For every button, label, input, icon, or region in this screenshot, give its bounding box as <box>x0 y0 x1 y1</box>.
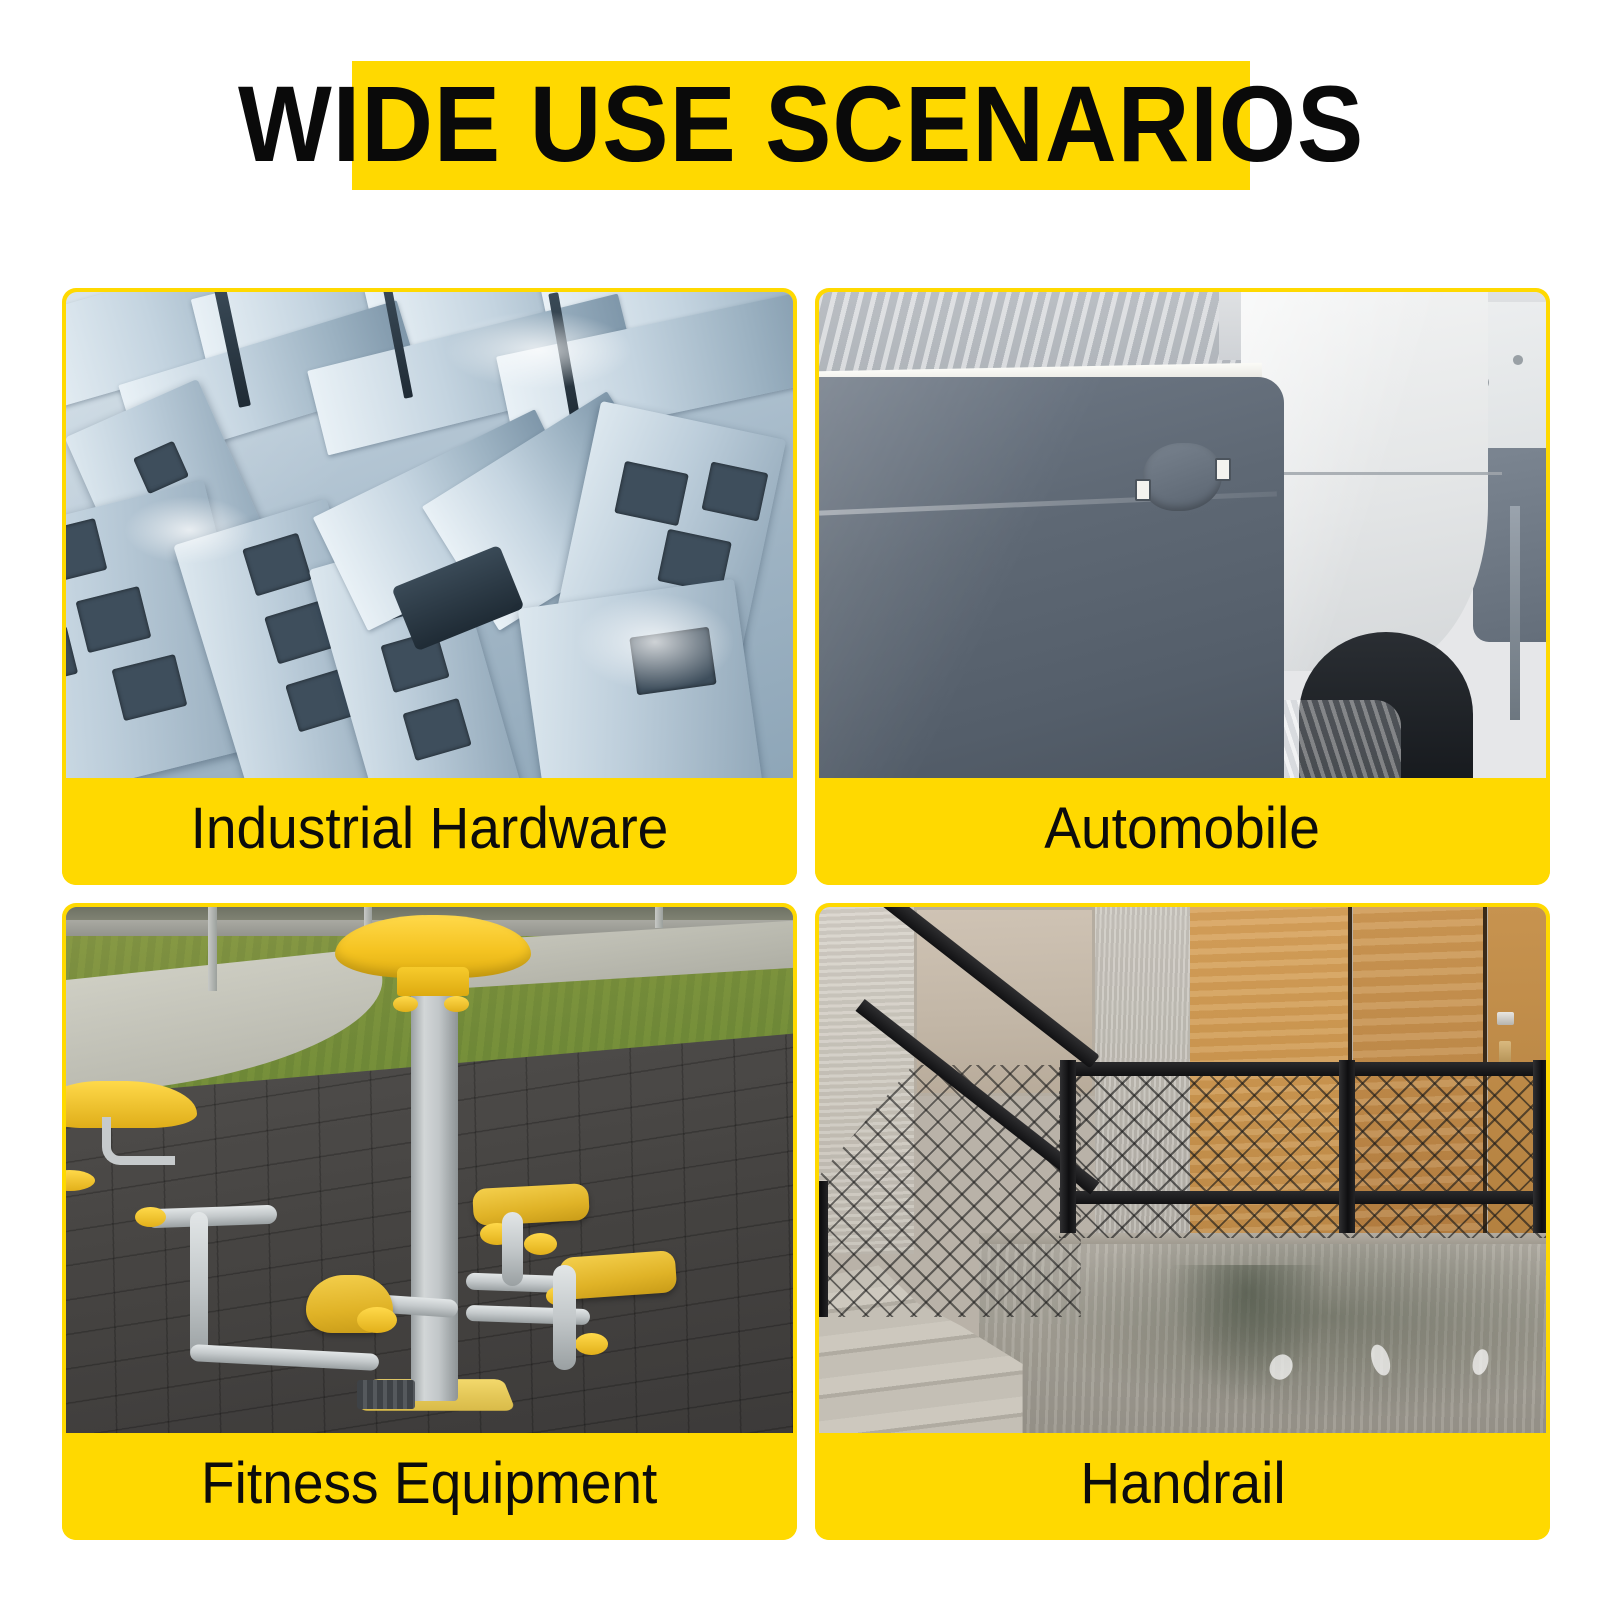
photo-fitness-equipment <box>66 907 793 1433</box>
caption-bar-industrial-hardware: Industrial Hardware <box>62 778 797 885</box>
card-label-automobile: Automobile <box>1045 800 1321 864</box>
scenario-card-automobile[interactable]: Automobile <box>815 288 1550 885</box>
photo-industrial-hardware <box>66 292 793 778</box>
car-door-primer <box>819 377 1284 778</box>
scenario-card-handrail[interactable]: Handrail <box>815 903 1550 1540</box>
photo-automobile <box>819 292 1546 778</box>
card-label-industrial-hardware: Industrial Hardware <box>191 800 669 864</box>
mesh-infill-flat <box>1059 1065 1546 1239</box>
page-title-banner: WIDE USE SCENARIOS <box>352 61 1250 190</box>
caption-bar-automobile: Automobile <box>815 778 1550 885</box>
scenario-card-industrial-hardware[interactable]: Industrial Hardware <box>62 288 797 885</box>
card-label-fitness-equipment: Fitness Equipment <box>201 1455 657 1519</box>
page-title: WIDE USE SCENARIOS <box>238 70 1364 182</box>
scenario-grid: Industrial Hardware <box>62 288 1540 1540</box>
equipment-column <box>411 970 458 1401</box>
caption-bar-handrail: Handrail <box>815 1433 1550 1540</box>
scenario-card-fitness-equipment[interactable]: Fitness Equipment <box>62 903 797 1540</box>
photo-handrail <box>819 907 1546 1433</box>
caption-bar-fitness-equipment: Fitness Equipment <box>62 1433 797 1540</box>
handrail-mid-rail <box>1073 1191 1546 1204</box>
infographic-page: WIDE USE SCENARIOS <box>0 0 1600 1600</box>
handrail-top-rail <box>1066 1062 1546 1076</box>
card-label-handrail: Handrail <box>1080 1455 1285 1519</box>
door-lock <box>1497 1012 1514 1025</box>
